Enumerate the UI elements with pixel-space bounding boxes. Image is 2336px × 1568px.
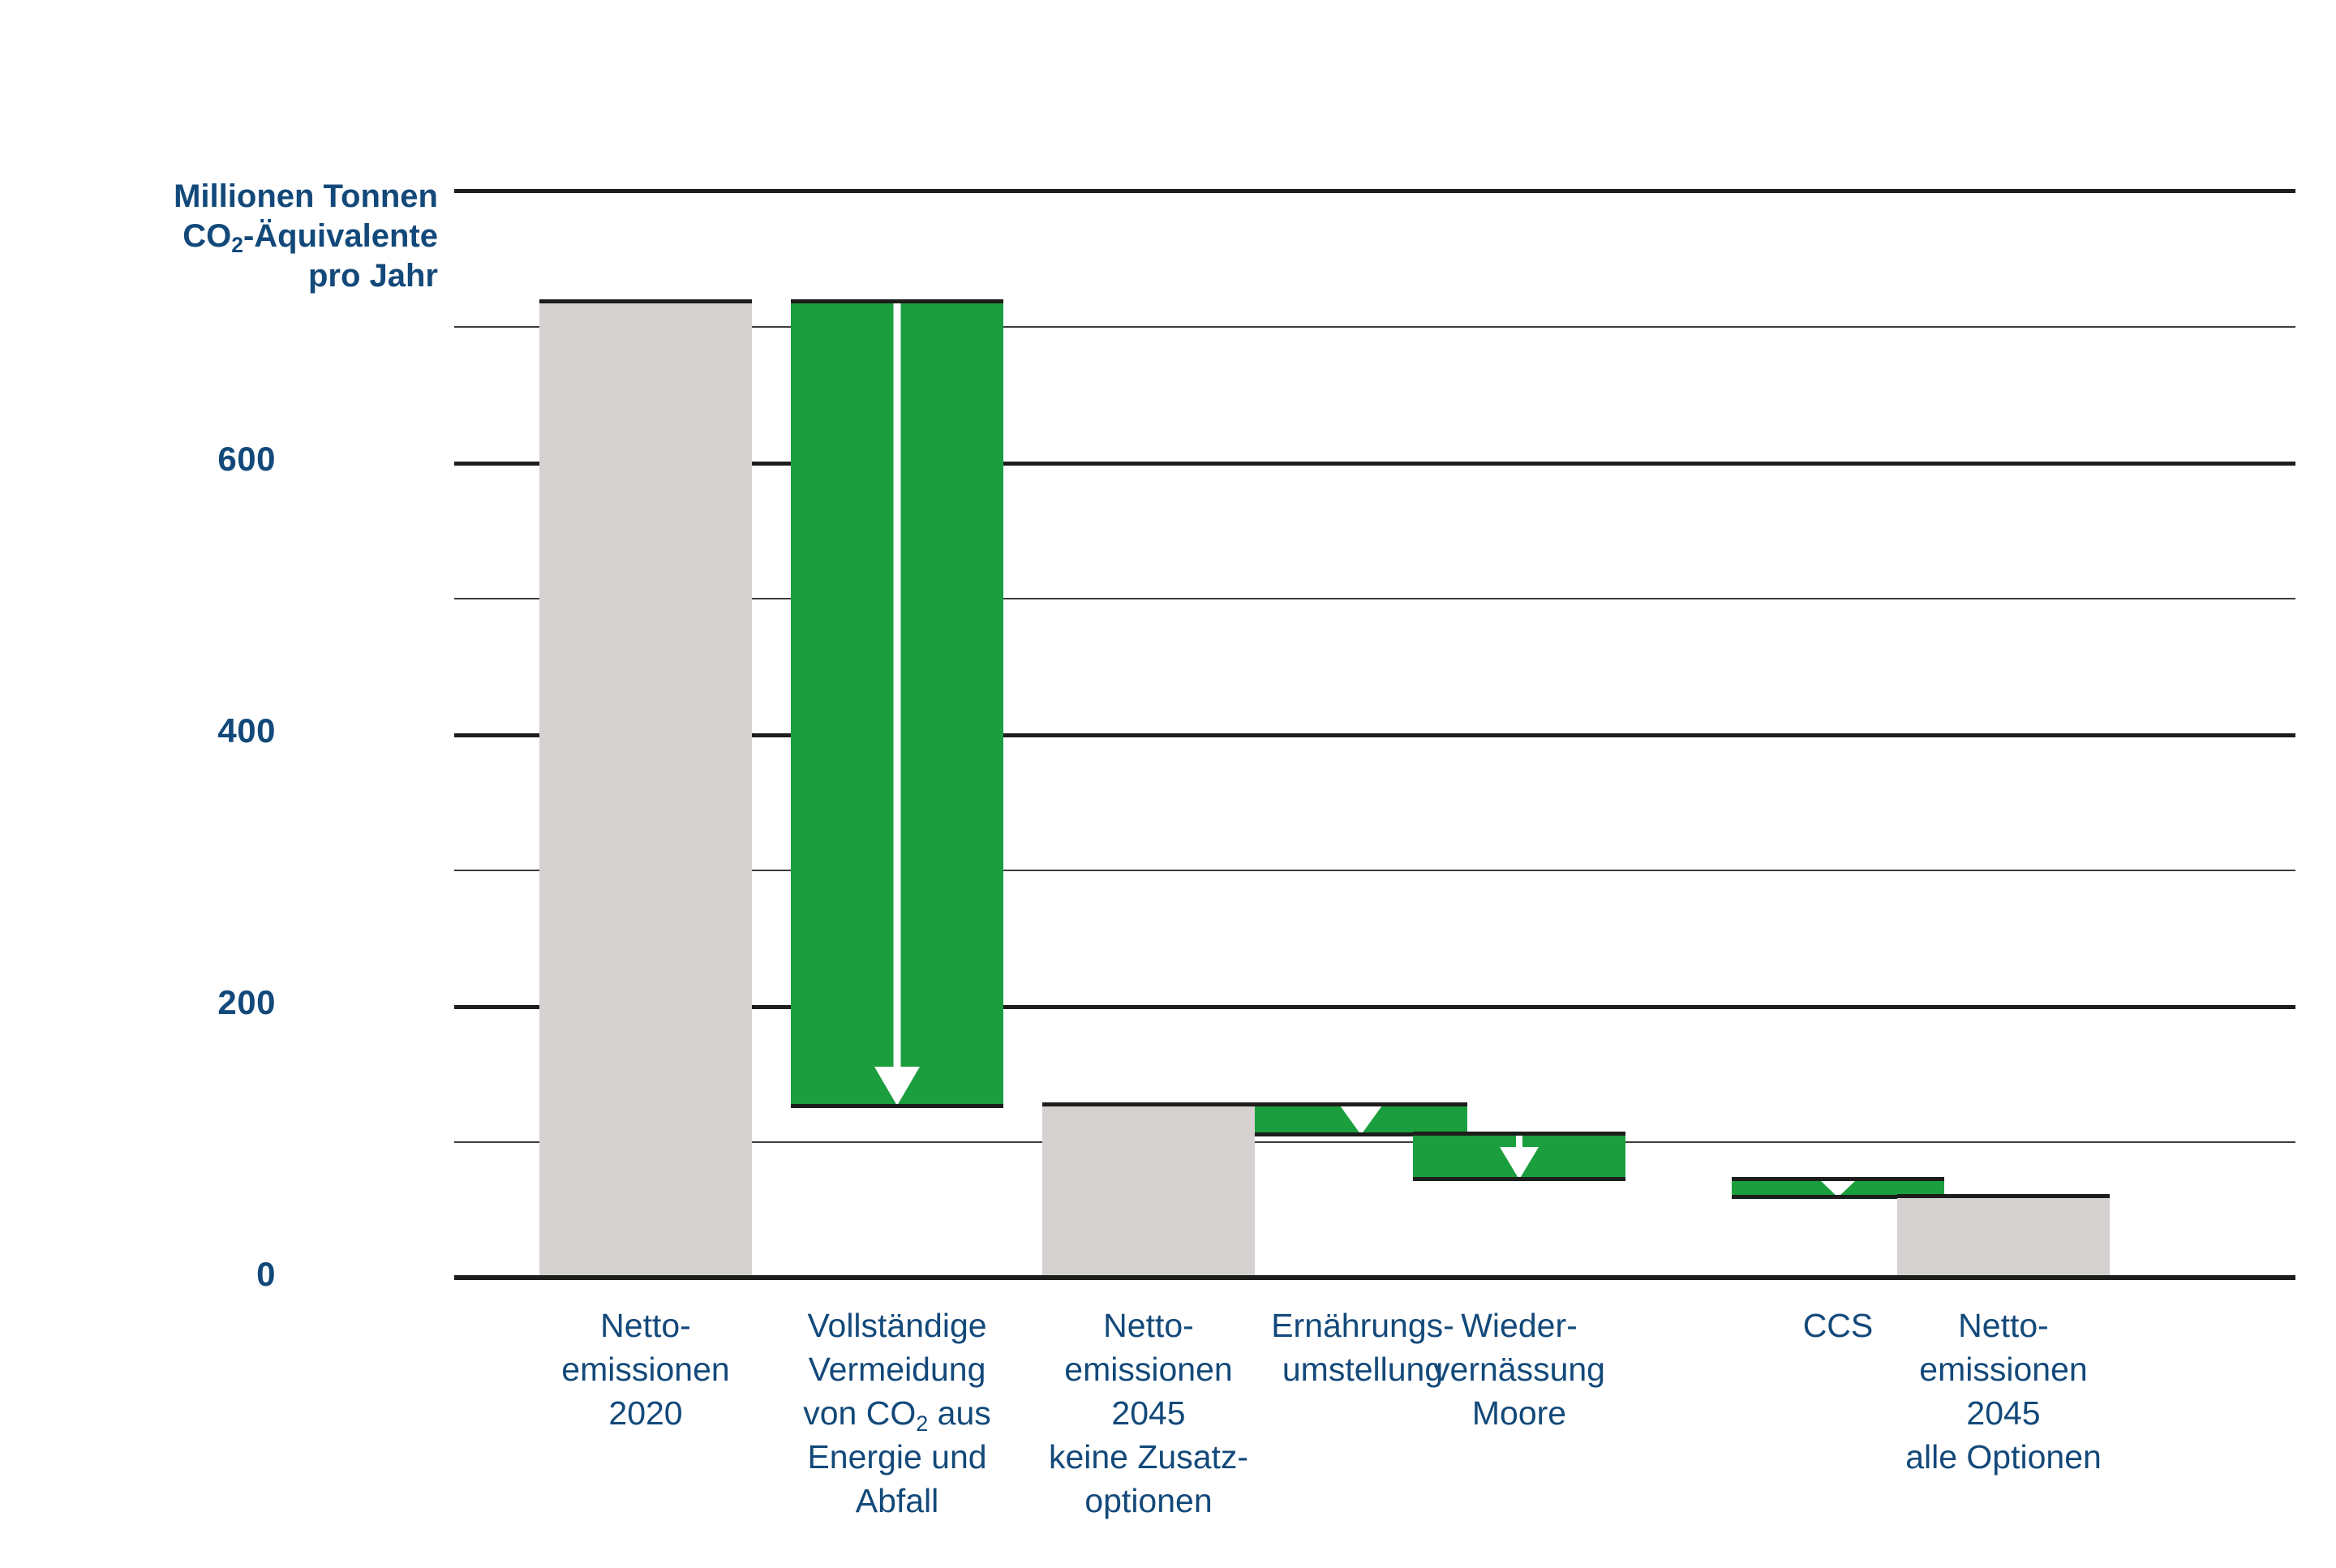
bar-cap-netto-2045-alle-optionen [1897, 1194, 2110, 1198]
category-label-netto-2045-alle-optionen: Netto- emissionen 2045 alle Optionen [1874, 1304, 2133, 1479]
bar-cap-top-wiedervernaessung-moore [1413, 1132, 1625, 1136]
arrow-head [1340, 1106, 1382, 1135]
category-line-aus: aus [928, 1394, 991, 1432]
gridline-800 [454, 189, 2295, 193]
category-line: Wieder- [1398, 1304, 1641, 1347]
category-label-netto-2020: Netto- emissionen 2020 [516, 1304, 775, 1435]
bar-cap-top-ernaehrungsumstellung [1255, 1102, 1467, 1106]
arrow-head [874, 1067, 920, 1106]
arrow-shaft [894, 303, 901, 1067]
y-tick-label-400: 400 [217, 714, 276, 748]
category-label-vollstaendige-vermeidung: Vollständige Vermeidung von CO2 aus Ener… [767, 1304, 1027, 1523]
reduction-arrow-vollstaendige-vermeidung [791, 303, 1003, 1106]
bar-cap-netto-2045-keine-zusatzoptionen [1042, 1102, 1255, 1106]
category-line: keine Zusatz- [1006, 1435, 1291, 1479]
category-line: alle Optionen [1874, 1435, 2133, 1479]
bar-cap-netto-2020 [539, 299, 752, 303]
bar-wiedervernaessung-moore [1413, 1135, 1625, 1179]
category-line: 2045 [1006, 1391, 1291, 1435]
category-line: Vollständige [767, 1304, 1027, 1347]
waterfall-chart: Millionen Tonnen CO2-Äquivalente pro Jah… [0, 0, 2336, 1568]
gridline-0-baseline [454, 1275, 2295, 1280]
y-tick-label-200: 200 [217, 986, 276, 1020]
category-line: emissionen [516, 1347, 775, 1391]
arrow-shaft [1516, 1135, 1522, 1153]
bar-netto-2045-alle-optionen [1897, 1197, 2110, 1275]
y-tick-label-600: 600 [217, 442, 276, 476]
bar-cap-top-ccs [1732, 1177, 1944, 1181]
reduction-arrow-wiedervernaessung-moore [1413, 1135, 1625, 1179]
category-line: Moore [1398, 1391, 1641, 1435]
bar-vollstaendige-vermeidung [791, 303, 1003, 1106]
category-line: Energie und [767, 1435, 1027, 1479]
category-line: Vermeidung [767, 1347, 1027, 1391]
reduction-arrow-ernaehrungsumstellung [1255, 1106, 1467, 1135]
category-line-co-subscript: 2 [916, 1411, 928, 1436]
category-line: optionen [1006, 1479, 1291, 1523]
category-line: von CO2 aus [767, 1391, 1027, 1435]
bar-netto-2020 [539, 303, 752, 1275]
category-line: vernässung [1398, 1347, 1641, 1391]
category-line-co: von CO [803, 1394, 916, 1432]
y-tick-label-0: 0 [256, 1257, 276, 1291]
category-line: Abfall [767, 1479, 1027, 1523]
category-line: 2045 [1874, 1391, 2133, 1435]
arrow-head [1500, 1147, 1539, 1179]
category-line: emissionen [1874, 1347, 2133, 1391]
bar-netto-2045-keine-zusatzoptionen [1042, 1106, 1255, 1275]
bar-cap-bottom-vollstaendige-vermeidung [791, 1104, 1003, 1108]
category-line: Netto- [516, 1304, 775, 1347]
category-label-wiedervernaessung-moore: Wieder- vernässung Moore [1398, 1304, 1641, 1435]
bar-cap-top-vollstaendige-vermeidung [791, 299, 1003, 303]
bar-ernaehrungsumstellung [1255, 1106, 1467, 1135]
category-line: 2020 [516, 1391, 775, 1435]
bar-cap-bottom-wiedervernaessung-moore [1413, 1177, 1625, 1181]
category-line: Netto- [1874, 1304, 2133, 1347]
